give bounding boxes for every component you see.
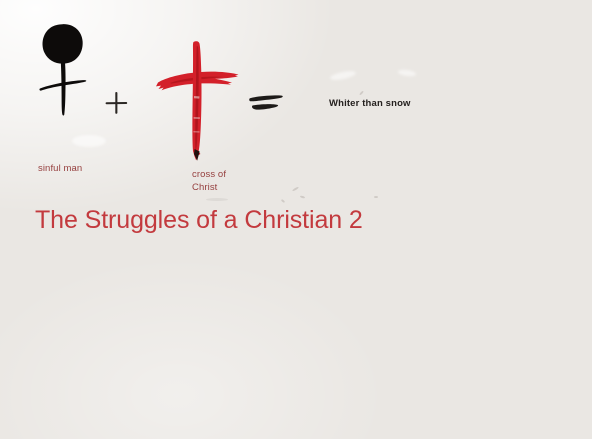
plus-operator — [104, 89, 130, 117]
cross-of-christ-figure — [152, 38, 244, 168]
paper-speck — [206, 198, 228, 201]
sinful-man-label: sinful man — [38, 162, 82, 175]
equals-icon-bottom-bar — [252, 104, 278, 109]
equals-icon-top-bar — [249, 95, 283, 101]
sinful-man-figure — [33, 22, 95, 134]
cross-brush-nick-icon — [194, 96, 200, 99]
cross-of-christ-label: cross of Christ — [192, 168, 226, 194]
page-title: The Struggles of a Christian 2 — [35, 205, 363, 235]
whiter-than-snow-label: Whiter than snow — [329, 98, 411, 109]
stick-figure-head-icon — [43, 24, 83, 64]
cross-brush-nick-icon — [194, 117, 200, 119]
paper-speck — [374, 196, 378, 198]
stick-figure-body-icon — [61, 62, 66, 116]
plus-icon-crossbar — [106, 102, 128, 104]
equals-operator — [248, 90, 286, 116]
paper-smudge — [72, 135, 106, 147]
cross-brush-nick-icon — [193, 131, 199, 133]
slide-canvas: sinful man cross of Christ Whiter than s… — [0, 0, 600, 439]
